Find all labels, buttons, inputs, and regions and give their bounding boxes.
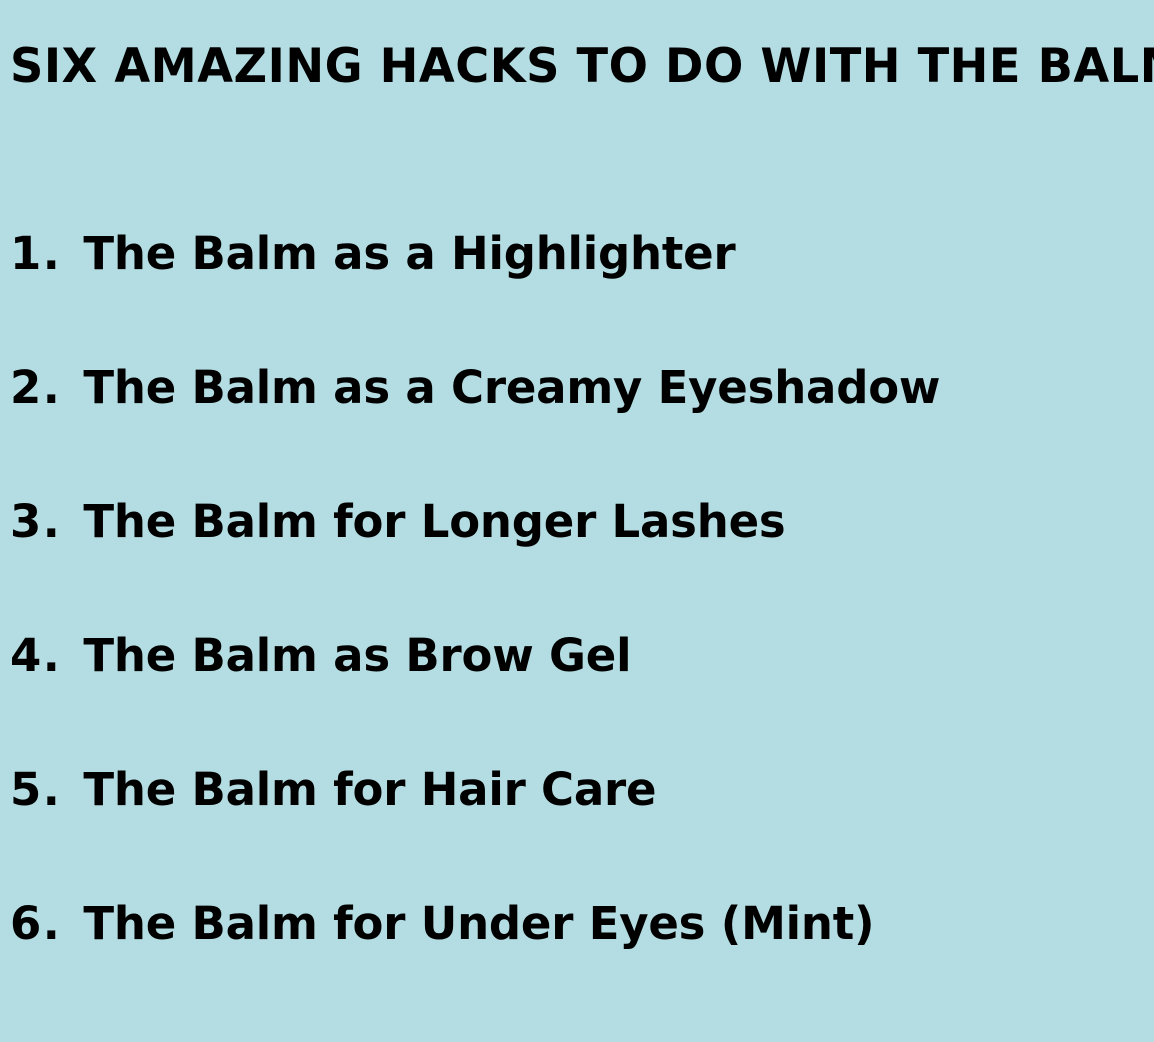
list-item-number: 3. (10, 492, 61, 552)
list-item: 5. The Balm for Hair Care (0, 760, 1154, 894)
list-item-number: 5. (10, 760, 61, 820)
list-item-label: The Balm for Longer Lashes (83, 492, 785, 552)
poster-canvas: SIX AMAZING HACKS TO DO WITH THE BALM: 1… (0, 0, 1154, 1042)
list-item: 1. The Balm as a Highlighter (0, 224, 1154, 358)
list-item: 6. The Balm for Under Eyes (Mint) (0, 894, 1154, 1028)
list-item-label: The Balm for Under Eyes (Mint) (83, 894, 874, 954)
hack-list: 1. The Balm as a Highlighter 2. The Balm… (0, 224, 1154, 1028)
list-item-label: The Balm for Hair Care (83, 760, 656, 820)
list-item-number: 1. (10, 224, 61, 284)
list-item-label: The Balm as a Highlighter (83, 224, 735, 284)
list-item-number: 6. (10, 894, 61, 954)
list-item: 4. The Balm as Brow Gel (0, 626, 1154, 760)
list-item-label: The Balm as a Creamy Eyeshadow (83, 358, 940, 418)
list-item-number: 4. (10, 626, 61, 686)
list-item: 3. The Balm for Longer Lashes (0, 492, 1154, 626)
list-item: 2. The Balm as a Creamy Eyeshadow (0, 358, 1154, 492)
page-title: SIX AMAZING HACKS TO DO WITH THE BALM: (10, 38, 1133, 96)
list-item-label: The Balm as Brow Gel (83, 626, 631, 686)
list-item-number: 2. (10, 358, 61, 418)
